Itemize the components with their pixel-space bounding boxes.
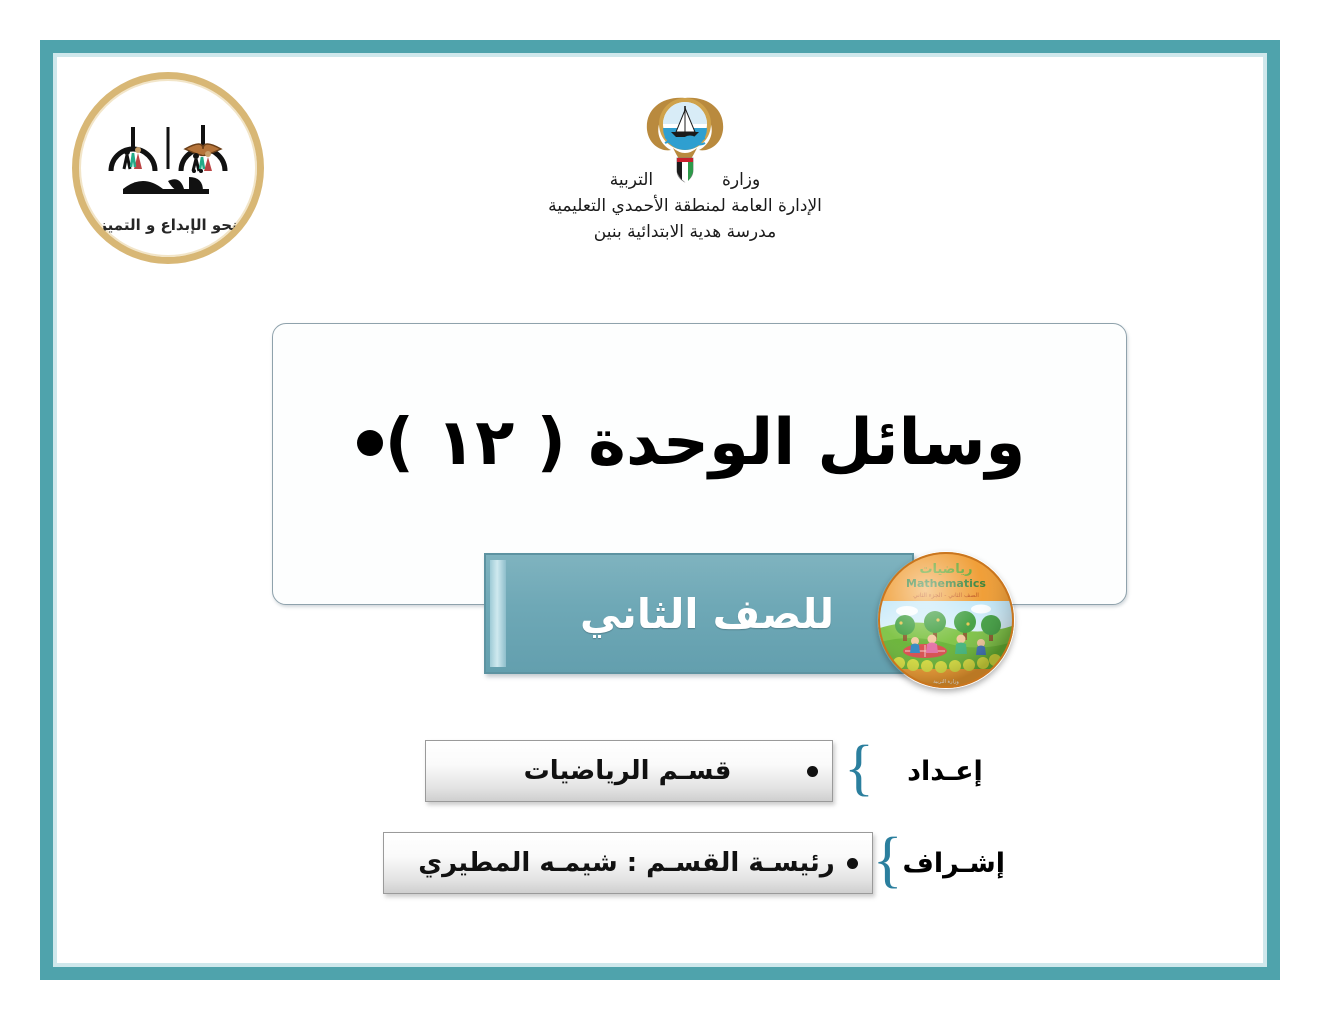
ministry-line-2: الإدارة العامة لمنطقة الأحمدي التعليمية [505, 196, 865, 216]
math-badge: رياضيات Mathematics الصف الثاني - الجزء … [877, 551, 1015, 689]
brace-icon: } [873, 829, 903, 891]
page-title: وسائل الوحدة ( ١٢ ) [286, 406, 1096, 480]
bullet-icon [807, 766, 818, 777]
ministry-word-wizara: وزارة [722, 170, 760, 190]
ministry-word-tarbiya: التربية [610, 170, 653, 190]
credit-row: إشـراف } رئيسـة القسـم : شيمـه المطيري [425, 832, 1005, 894]
ministry-line-3: مدرسة هدية الابتدائية بنين [505, 222, 865, 242]
school-logo-tagline: نحو الإبداع و التميز [98, 216, 237, 234]
bullet-icon [847, 858, 858, 869]
hadiya-school-logo-icon [93, 109, 243, 214]
brace-icon: } [833, 737, 885, 799]
grade-banner-bevel [490, 560, 506, 667]
grade-banner: للصف الثاني [484, 553, 914, 674]
slide-canvas: نحو الإبداع و التميز [0, 0, 1320, 1020]
title-text-label: وسائل الوحدة ( ١٢ ) [385, 406, 1026, 480]
title-bullet-icon [357, 430, 383, 456]
mathematics-book-badge-icon: رياضيات Mathematics الصف الثاني - الجزء … [877, 551, 1015, 689]
ministry-line-1: وزارة التربية [505, 170, 865, 190]
credit-value-preparation: قسـم الرياضيات [440, 756, 795, 786]
school-logo: نحو الإبداع و التميز [72, 72, 264, 264]
credit-label-preparation: إعـداد [885, 756, 1005, 787]
grade-banner-label: للصف الثاني [512, 555, 902, 672]
ministry-header: وزارة التربية الإدارة العامة لمنطقة الأح… [505, 88, 865, 242]
credit-row: إعـداد } قسـم الرياضيات [425, 740, 1005, 802]
credit-label-supervision: إشـراف [903, 848, 1005, 879]
credit-value-supervision: رئيسـة القسـم : شيمـه المطيري [398, 848, 835, 878]
credit-chip-supervision[interactable]: رئيسـة القسـم : شيمـه المطيري [383, 832, 873, 894]
credit-chip-preparation[interactable]: قسـم الرياضيات [425, 740, 833, 802]
